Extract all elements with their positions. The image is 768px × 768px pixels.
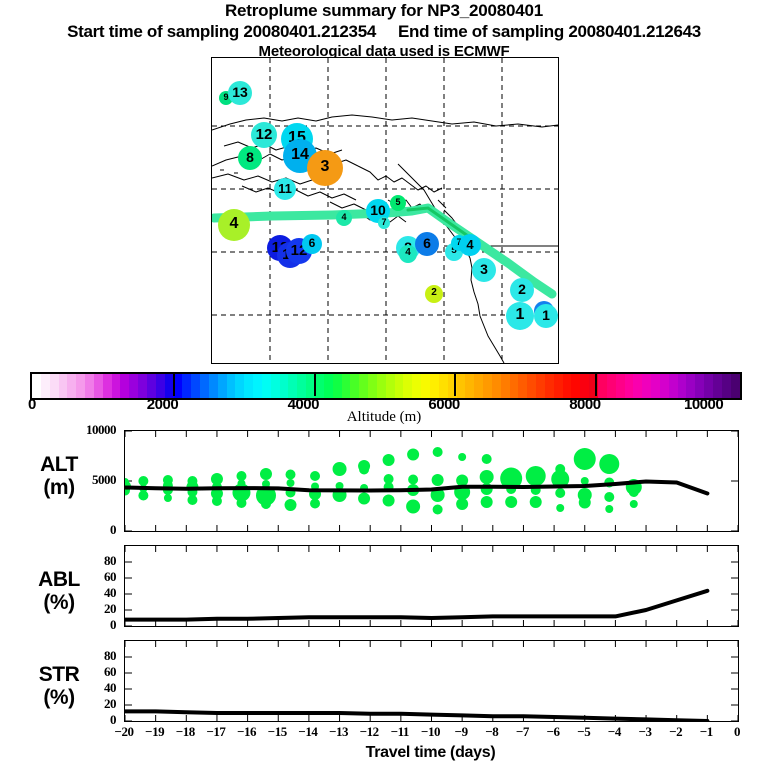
x-axis-tick-label: −12 — [354, 724, 384, 740]
colorbar-swatch — [218, 374, 227, 398]
y-axis-tick-label: 60 — [68, 664, 116, 680]
map-marker-label: 5 — [395, 198, 400, 207]
map-marker-label: 4 — [341, 213, 346, 222]
colorbar-swatch — [607, 374, 616, 398]
page-title: Retroplume summary for NP3_20080401 — [0, 0, 768, 21]
colorbar-swatch — [457, 374, 466, 398]
x-axis-tick-label: −10 — [416, 724, 446, 740]
map-marker[interactable]: 11 — [274, 178, 296, 200]
colorbar-separator — [454, 372, 456, 396]
map-marker-label: 11 — [278, 182, 292, 195]
colorbar-swatch — [580, 374, 589, 398]
colorbar-swatch — [288, 374, 297, 398]
colorbar-swatch — [138, 374, 147, 398]
str-chart-panel[interactable] — [124, 640, 739, 722]
colorbar-swatch — [209, 374, 218, 398]
colorbar-swatch — [297, 374, 306, 398]
colorbar-swatch — [731, 374, 740, 398]
colorbar-swatch — [41, 374, 50, 398]
y-axis-tick-label: 5000 — [68, 472, 116, 488]
map-marker[interactable]: 2 — [510, 278, 534, 302]
x-axis-tick-label: −11 — [385, 724, 415, 740]
map-marker[interactable]: 2 — [425, 285, 443, 303]
title-block: Retroplume summary for NP3_20080401 Star… — [0, 0, 768, 61]
colorbar-swatch — [669, 374, 678, 398]
x-axis-title: Travel time (days) — [124, 744, 737, 762]
colorbar-swatch — [527, 374, 536, 398]
colorbar-swatch — [147, 374, 156, 398]
colorbar-swatch — [474, 374, 483, 398]
colorbar-swatch — [510, 374, 519, 398]
colorbar-swatch — [94, 374, 103, 398]
map-marker-label: 3 — [321, 159, 330, 175]
colorbar-swatch — [633, 374, 642, 398]
x-axis-tick-label: −18 — [170, 724, 200, 740]
alt-chart-panel[interactable] — [124, 430, 739, 532]
map-marker-label: 14 — [291, 147, 309, 163]
y-axis-tick-label: 80 — [68, 648, 116, 664]
sampling-time-row: Start time of sampling 20080401.212354 E… — [0, 21, 768, 42]
colorbar-swatch — [350, 374, 359, 398]
colorbar-swatch — [642, 374, 651, 398]
colorbar-swatch — [403, 374, 412, 398]
map-marker-label: 10 — [370, 203, 386, 217]
y-axis-tick-label: 60 — [68, 569, 116, 585]
map-marker[interactable]: 1 — [506, 302, 534, 330]
colorbar-swatch — [678, 374, 687, 398]
x-axis-tick-label: −20 — [109, 724, 139, 740]
map-marker-label: 8 — [246, 150, 254, 164]
colorbar-swatch — [200, 374, 209, 398]
map-marker[interactable]: 4 — [218, 209, 250, 241]
retroplume-map[interactable]: 91312815143111057441311126864574322511 — [211, 57, 559, 364]
altitude-colorbar — [30, 372, 742, 400]
colorbar-swatch — [536, 374, 545, 398]
map-marker[interactable]: 4 — [459, 234, 481, 256]
colorbar-swatch — [280, 374, 289, 398]
x-axis-tick-label: −2 — [661, 724, 691, 740]
x-axis-tick-label: −17 — [201, 724, 231, 740]
map-marker-label: 13 — [232, 85, 248, 99]
colorbar-swatch — [386, 374, 395, 398]
x-axis-tick-label: 0 — [722, 724, 752, 740]
colorbar-swatch — [174, 374, 183, 398]
colorbar-swatch — [182, 374, 191, 398]
x-axis-tick-label: −15 — [262, 724, 292, 740]
colorbar-swatch — [625, 374, 634, 398]
colorbar-swatch — [191, 374, 200, 398]
colorbar-swatch — [156, 374, 165, 398]
colorbar-swatch — [686, 374, 695, 398]
colorbar-swatch — [32, 374, 41, 398]
colorbar-swatch — [395, 374, 404, 398]
x-axis-tick-label: −7 — [507, 724, 537, 740]
x-axis-tick-label: −9 — [446, 724, 476, 740]
colorbar-swatch — [704, 374, 713, 398]
colorbar-swatch — [501, 374, 510, 398]
x-axis-tick-label: −13 — [324, 724, 354, 740]
map-marker[interactable]: 4 — [336, 210, 352, 226]
colorbar-swatch — [598, 374, 607, 398]
colorbar-swatch — [253, 374, 262, 398]
colorbar-swatch — [262, 374, 271, 398]
str-plot-area — [125, 641, 738, 721]
x-axis-tick-label: −16 — [232, 724, 262, 740]
map-marker-label: 1 — [542, 308, 550, 322]
colorbar-swatch — [545, 374, 554, 398]
colorbar-swatch — [129, 374, 138, 398]
map-marker[interactable]: 6 — [302, 234, 322, 254]
colorbar-swatch — [315, 374, 324, 398]
y-axis-tick-label: 40 — [68, 585, 116, 601]
map-marker-label: 4 — [230, 216, 239, 232]
colorbar-swatch — [492, 374, 501, 398]
y-axis-tick-label: 0 — [68, 617, 116, 633]
colorbar-swatch — [333, 374, 342, 398]
colorbar-swatch — [112, 374, 121, 398]
colorbar-swatch — [85, 374, 94, 398]
map-marker[interactable]: 4 — [399, 245, 417, 263]
colorbar-swatch — [722, 374, 731, 398]
map-marker[interactable]: 1 — [534, 304, 558, 328]
colorbar-swatch — [713, 374, 722, 398]
colorbar-swatch — [59, 374, 68, 398]
colorbar-swatch — [324, 374, 333, 398]
y-axis-tick-label: 0 — [68, 522, 116, 538]
colorbar-separator — [314, 372, 316, 396]
colorbar-swatch — [103, 374, 112, 398]
x-axis-tick-label: −5 — [569, 724, 599, 740]
y-axis-tick-label: 80 — [68, 553, 116, 569]
end-time-label: End time of sampling 20080401.212643 — [398, 21, 701, 42]
map-marker[interactable]: 8 — [238, 146, 262, 170]
abl-chart-panel[interactable] — [124, 545, 739, 627]
map-marker-label: 1 — [516, 307, 525, 323]
map-marker[interactable]: 7 — [378, 217, 390, 229]
colorbar-swatch — [227, 374, 236, 398]
colorbar-swatch — [439, 374, 448, 398]
x-axis-tick-label: −4 — [599, 724, 629, 740]
colorbar-swatch — [518, 374, 527, 398]
colorbar-separator — [595, 372, 597, 396]
map-marker-label: 4 — [405, 248, 411, 258]
x-axis-tick-label: −14 — [293, 724, 323, 740]
abl-plot-area — [125, 546, 738, 626]
colorbar-swatch — [342, 374, 351, 398]
map-marker[interactable]: 6 — [415, 232, 439, 256]
map-marker-label: 3 — [480, 262, 488, 276]
colorbar-swatch — [695, 374, 704, 398]
x-axis-tick-label: −1 — [691, 724, 721, 740]
map-marker[interactable]: 3 — [307, 150, 343, 186]
colorbar-swatch — [616, 374, 625, 398]
map-marker-label: 4 — [466, 238, 473, 251]
colorbar-swatch — [651, 374, 660, 398]
map-marker-label: 2 — [431, 288, 437, 298]
map-marker[interactable]: 13 — [228, 81, 252, 105]
map-marker[interactable]: 12 — [251, 122, 277, 148]
map-marker-label: 6 — [423, 236, 431, 250]
map-marker[interactable]: 5 — [390, 195, 406, 211]
colorbar-swatch — [120, 374, 129, 398]
map-marker-label: 2 — [518, 282, 526, 296]
y-axis-tick-label: 10000 — [68, 422, 116, 438]
colorbar-swatch — [377, 374, 386, 398]
colorbar-swatch — [554, 374, 563, 398]
y-axis-tick-label: 20 — [68, 696, 116, 712]
colorbar-swatch — [412, 374, 421, 398]
colorbar-swatch — [235, 374, 244, 398]
map-marker[interactable]: 3 — [472, 258, 496, 282]
colorbar-swatch — [271, 374, 280, 398]
colorbar-swatch — [244, 374, 253, 398]
colorbar-swatch — [67, 374, 76, 398]
x-axis-tick-label: −3 — [630, 724, 660, 740]
colorbar-swatch — [660, 374, 669, 398]
start-time-label: Start time of sampling 20080401.212354 — [67, 21, 376, 42]
x-axis-tick-label: −19 — [140, 724, 170, 740]
y-axis-tick-label: 40 — [68, 680, 116, 696]
colorbar-swatch — [50, 374, 59, 398]
map-marker-label: 6 — [309, 237, 316, 249]
colorbar-swatch — [571, 374, 580, 398]
colorbar-swatch — [563, 374, 572, 398]
colorbar-swatch — [76, 374, 85, 398]
colorbar-swatch — [359, 374, 368, 398]
colorbar-separator — [173, 372, 175, 396]
map-marker-label: 12 — [256, 127, 273, 142]
colorbar-swatch — [430, 374, 439, 398]
colorbar-swatch — [421, 374, 430, 398]
y-axis-tick-label: 20 — [68, 601, 116, 617]
colorbar-swatch — [368, 374, 377, 398]
x-axis-tick-label: −8 — [477, 724, 507, 740]
colorbar-swatch — [465, 374, 474, 398]
map-marker-label: 7 — [381, 218, 386, 227]
alt-plot-area — [125, 431, 738, 531]
x-axis-tick-label: −6 — [538, 724, 568, 740]
colorbar-swatch — [483, 374, 492, 398]
